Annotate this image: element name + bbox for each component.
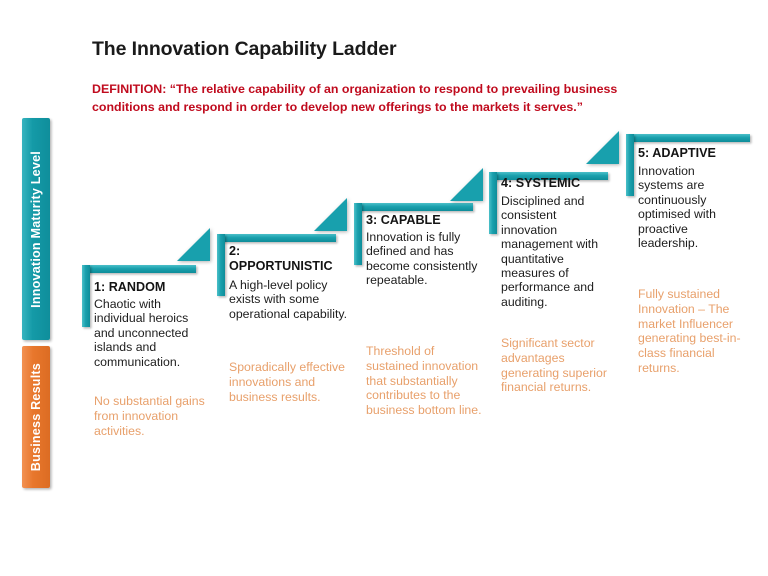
step-title-systemic: 4: SYSTEMIC (501, 176, 619, 191)
step-riser-opportunistic (177, 228, 210, 261)
step-description-opportunistic: A high-level policy exists with some ope… (229, 278, 349, 321)
step-left-bar-opportunistic (217, 234, 225, 296)
step-description-capable: Innovation is fully defined and has beco… (366, 230, 484, 288)
step-left-bar-capable (354, 203, 362, 265)
step-title-capable: 3: CAPABLE (366, 213, 484, 228)
axis-label-business-results: Business Results (29, 363, 43, 471)
step-result-capable: Threshold of sustained innovation that s… (366, 344, 486, 418)
slide-canvas: The Innovation Capability Ladder DEFINIT… (0, 0, 768, 576)
step-result-adaptive: Fully sustained Innovation – The market … (638, 287, 746, 376)
step-description-adaptive: Innovation systems are continuously opti… (638, 164, 742, 250)
step-top-bar-opportunistic (217, 234, 336, 242)
step-title-adaptive: 5: ADAPTIVE (638, 146, 756, 161)
step-left-bar-systemic (489, 172, 497, 234)
definition-text: DEFINITION: “The relative capability of … (92, 81, 672, 116)
step-title-random: 1: RANDOM (94, 280, 206, 295)
step-riser-adaptive (586, 131, 619, 164)
step-left-bar-adaptive (626, 134, 634, 196)
step-result-random: No substantial gains from innovation act… (94, 394, 210, 438)
step-top-bar-random (82, 265, 196, 273)
page-title: The Innovation Capability Ladder (92, 38, 397, 61)
step-top-bar-capable (354, 203, 473, 211)
step-result-systemic: Significant sector advantages generating… (501, 336, 615, 395)
step-left-bar-random (82, 265, 90, 327)
step-top-bar-adaptive (626, 134, 750, 142)
step-description-systemic: Disciplined and consistent innovation ma… (501, 194, 613, 309)
step-title-opportunistic: 2: OPPORTUNISTIC (229, 244, 347, 273)
step-riser-systemic (450, 168, 483, 201)
step-description-random: Chaotic with individual heroics and unco… (94, 297, 210, 369)
step-result-opportunistic: Sporadically effective innovations and b… (229, 360, 351, 404)
axis-bar-innovation-maturity-level: Innovation Maturity Level (22, 118, 50, 340)
step-riser-capable (314, 198, 347, 231)
axis-label-innovation-maturity-level: Innovation Maturity Level (29, 151, 43, 308)
axis-bar-business-results: Business Results (22, 346, 50, 488)
